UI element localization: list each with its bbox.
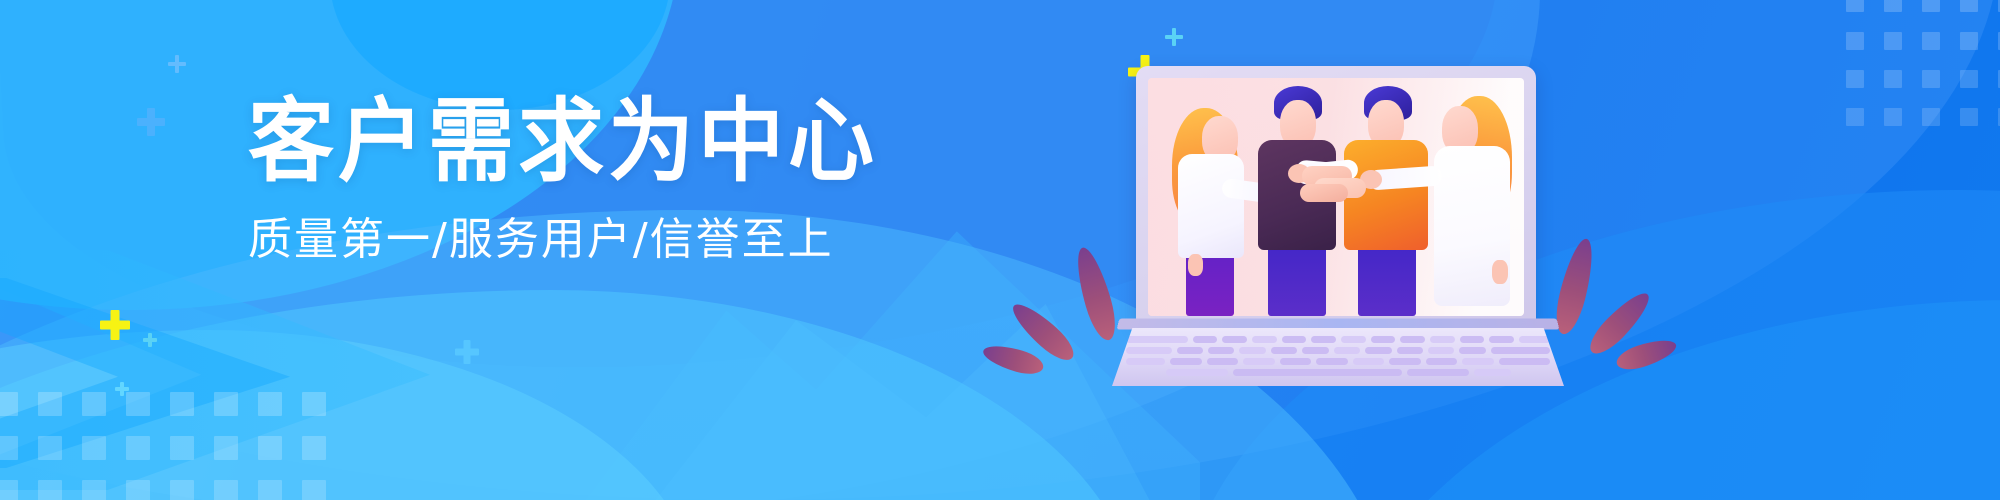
hand-resting xyxy=(1188,254,1203,276)
plus-cyan-mid-left-icon xyxy=(143,333,157,347)
page-subtitle: 质量第一/服务用户/信誉至上 xyxy=(248,216,868,264)
keyboard-key xyxy=(1491,347,1550,354)
plus-cyan-bottom-mid-icon xyxy=(455,340,479,364)
keyboard-key xyxy=(1282,336,1307,343)
hand-resting xyxy=(1492,260,1508,284)
keyboard-key xyxy=(1459,347,1485,354)
plus-white-faint-upper-icon xyxy=(168,55,186,73)
grid-square xyxy=(82,480,106,500)
background-chevron-left-2 xyxy=(0,278,290,468)
keyboard-key xyxy=(1126,347,1172,354)
keyboard-key xyxy=(1233,369,1402,376)
grid-square xyxy=(1922,70,1940,88)
promo-banner: 客户需求为中心 质量第一/服务用户/信誉至上 xyxy=(0,0,2000,500)
page-title: 客户需求为中心 xyxy=(248,96,868,187)
grid-square xyxy=(1922,108,1940,126)
background-bottom-wave-3 xyxy=(0,330,700,500)
keyboard-key xyxy=(1426,358,1458,365)
grid-square xyxy=(1846,32,1864,50)
grid-square xyxy=(1960,108,1978,126)
keyboard-row xyxy=(1126,336,1550,343)
laptop-screen xyxy=(1148,78,1524,316)
keyboard-key xyxy=(1489,336,1514,343)
leaf-left-1 xyxy=(1070,244,1121,343)
plus-cyan-small-right-icon xyxy=(1165,28,1183,46)
keyboard-key xyxy=(1271,347,1297,354)
leaf-left-3 xyxy=(980,340,1046,378)
plus-cyan-small-left-icon xyxy=(115,382,129,396)
grid-square xyxy=(170,436,194,460)
grid-square xyxy=(258,480,282,500)
keyboard-key xyxy=(1207,358,1239,365)
grid-square xyxy=(1884,0,1902,12)
keyboard-key xyxy=(1460,336,1485,343)
background-bottom-wave-2 xyxy=(0,290,1140,500)
grid-square xyxy=(258,392,282,416)
grid-square xyxy=(82,392,106,416)
grid-square xyxy=(1846,0,1864,12)
square-grid-bottom-left xyxy=(0,392,336,500)
keyboard-key xyxy=(1397,347,1423,354)
keyboard-key xyxy=(1371,336,1396,343)
grid-square xyxy=(1846,108,1864,126)
keyboard-key xyxy=(1462,358,1494,365)
keyboard-key xyxy=(1243,358,1275,365)
keyboard-key xyxy=(1353,358,1385,365)
grid-square xyxy=(0,392,18,416)
grid-square xyxy=(1884,108,1902,126)
grid-square xyxy=(1960,70,1978,88)
plus-white-faint-lower-icon xyxy=(137,108,165,136)
keyboard-key xyxy=(1499,358,1550,365)
keyboard-key xyxy=(1170,358,1202,365)
keyboard-key xyxy=(1316,358,1348,365)
keyboard-key xyxy=(1474,369,1511,376)
grid-square xyxy=(214,480,238,500)
keyboard-key xyxy=(1166,369,1228,376)
grid-square xyxy=(1846,70,1864,88)
grid-square xyxy=(214,436,238,460)
grid-square xyxy=(38,392,62,416)
grid-square xyxy=(170,480,194,500)
keyboard-key xyxy=(1430,336,1455,343)
keyboard-key xyxy=(1239,347,1265,354)
keyboard-key xyxy=(1126,358,1165,365)
grid-square xyxy=(1960,0,1978,12)
keyboard-row xyxy=(1126,358,1550,365)
laptop-illustration xyxy=(1118,66,1558,386)
grid-square xyxy=(214,392,238,416)
keyboard-key xyxy=(1126,336,1188,343)
keyboard-key xyxy=(1208,347,1234,354)
keyboard-key xyxy=(1302,347,1328,354)
keyboard-key xyxy=(1193,336,1218,343)
torso-white-shirt xyxy=(1178,154,1244,258)
grid-square xyxy=(1922,0,1940,12)
grid-square xyxy=(170,392,194,416)
laptop-base xyxy=(1118,318,1558,386)
person-woman-left xyxy=(1166,102,1262,316)
keyboard-key xyxy=(1389,358,1421,365)
grid-square xyxy=(1884,32,1902,50)
joined-hands-cluster xyxy=(1298,164,1374,204)
grid-square xyxy=(302,480,326,500)
grid-square xyxy=(126,480,150,500)
grid-square xyxy=(38,480,62,500)
keyboard-key xyxy=(1407,369,1469,376)
grid-square xyxy=(1960,32,1978,50)
keyboard-key xyxy=(1341,336,1366,343)
grid-square xyxy=(0,480,18,500)
keyboard-key xyxy=(1334,347,1360,354)
keyboard-key xyxy=(1311,336,1336,343)
square-grid-top-right xyxy=(1846,0,2000,136)
keyboard-key xyxy=(1177,347,1203,354)
grid-square xyxy=(126,436,150,460)
background-chevron-left xyxy=(0,250,430,490)
grid-square xyxy=(258,436,282,460)
keyboard-key xyxy=(1280,358,1312,365)
grid-square xyxy=(126,392,150,416)
keyboard-row xyxy=(1126,369,1550,376)
keyboard-key xyxy=(1428,347,1454,354)
keyboard-key xyxy=(1252,336,1277,343)
laptop-keyboard xyxy=(1112,328,1564,386)
keyboard-row xyxy=(1126,347,1550,354)
headline-block: 客户需求为中心 质量第一/服务用户/信誉至上 xyxy=(248,96,868,264)
grid-square xyxy=(1884,70,1902,88)
grid-square xyxy=(1922,32,1940,50)
keyboard-key xyxy=(1400,336,1425,343)
laptop-lid xyxy=(1136,66,1536,324)
leaf-right-3 xyxy=(1614,334,1680,374)
person-woman-right xyxy=(1420,92,1524,316)
keyboard-key xyxy=(1222,336,1247,343)
keyboard-key xyxy=(1519,336,1550,343)
plus-yellow-large-left-icon xyxy=(100,310,130,340)
keyboard-key xyxy=(1365,347,1391,354)
grid-square xyxy=(38,436,62,460)
grid-square xyxy=(0,436,18,460)
grid-square xyxy=(82,436,106,460)
grid-square xyxy=(302,436,326,460)
grid-square xyxy=(302,392,326,416)
